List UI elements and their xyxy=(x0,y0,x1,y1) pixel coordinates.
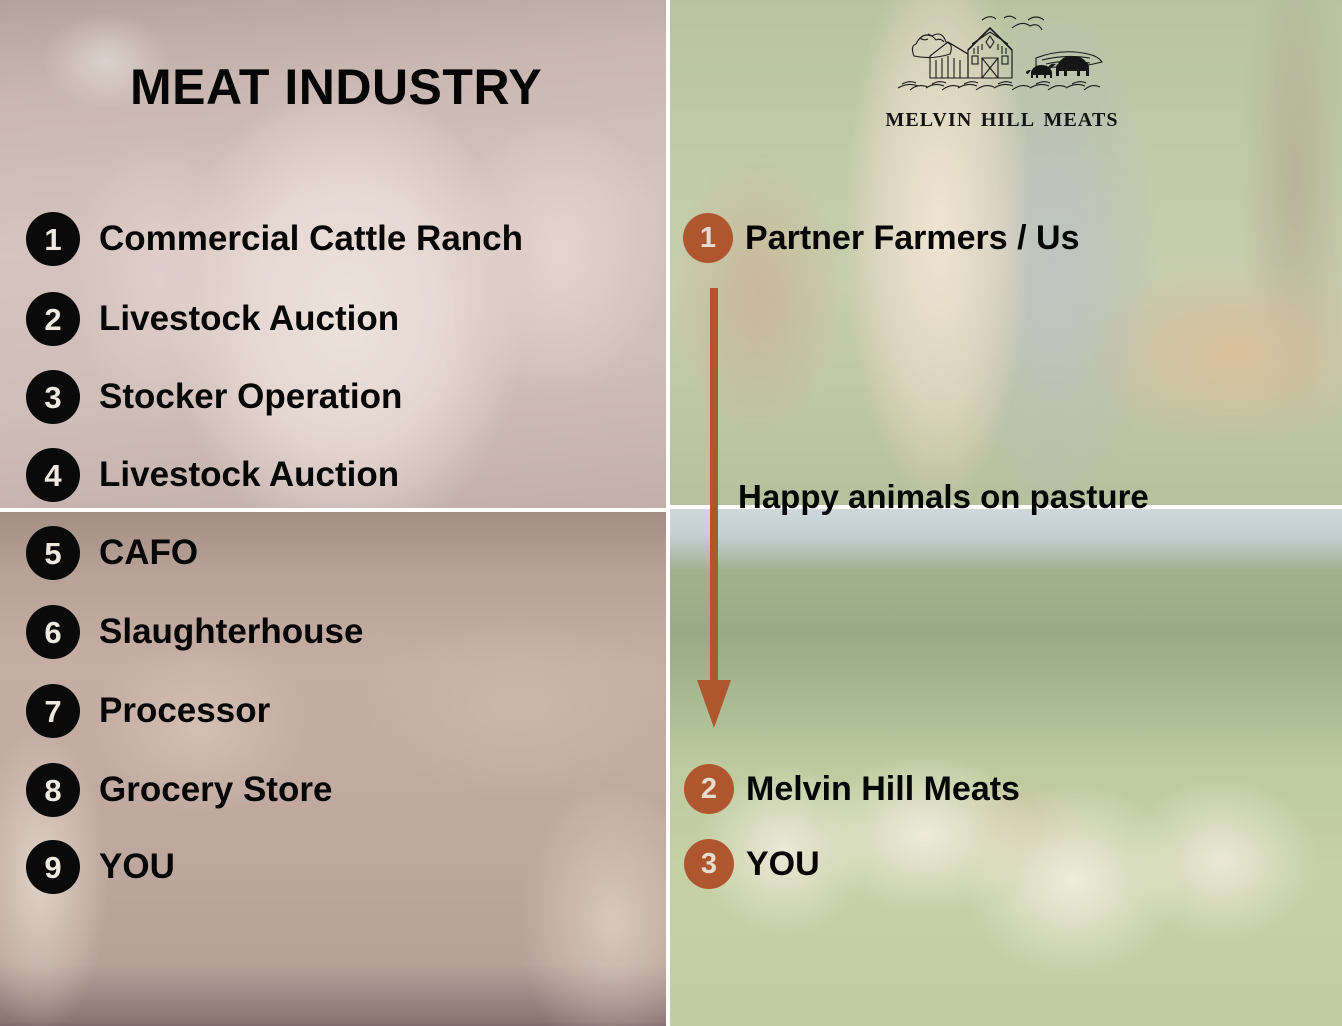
step-label: YOU xyxy=(746,845,820,884)
pasture-caption: Happy animals on pasture xyxy=(738,478,1149,516)
step-label: YOU xyxy=(99,847,175,887)
step-label: Grocery Store xyxy=(99,770,332,810)
step-number-badge: 5 xyxy=(26,526,80,580)
step-number-badge: 3 xyxy=(684,839,734,889)
step-number-badge: 1 xyxy=(26,212,80,266)
step-number-badge: 8 xyxy=(26,763,80,817)
step-label: Processor xyxy=(99,691,270,731)
step-number-badge: 4 xyxy=(26,448,80,502)
step-label: Slaughterhouse xyxy=(99,612,363,652)
step-label: Stocker Operation xyxy=(99,377,402,417)
brand-logo: Melvin Hill Meats xyxy=(846,14,1158,140)
list-item-step-7: 7 Processor xyxy=(26,684,270,738)
list-item-step-8: 8 Grocery Store xyxy=(26,763,332,817)
list-item-step-4: 4 Livestock Auction xyxy=(26,448,399,502)
list-item-step-1: 1 Commercial Cattle Ranch xyxy=(26,212,523,266)
step-number-badge: 2 xyxy=(26,292,80,346)
barn-farm-illustration-icon xyxy=(886,14,1118,100)
list-item-right-step-2: 2 Melvin Hill Meats xyxy=(684,764,1020,814)
infographic-canvas: MEAT INDUSTRY 1 Commercial Cattle Ranch … xyxy=(0,0,1342,1026)
list-item-step-3: 3 Stocker Operation xyxy=(26,370,402,424)
list-item-right-step-3: 3 YOU xyxy=(684,839,820,889)
brand-wordmark: Melvin Hill Meats xyxy=(885,101,1118,134)
step-number-badge: 1 xyxy=(683,213,733,263)
step-label: Partner Farmers / Us xyxy=(745,219,1080,258)
step-label: Livestock Auction xyxy=(99,299,399,339)
step-number-badge: 2 xyxy=(684,764,734,814)
step-number-badge: 3 xyxy=(26,370,80,424)
list-item-step-2: 2 Livestock Auction xyxy=(26,292,399,346)
step-label: Livestock Auction xyxy=(99,455,399,495)
step-number-badge: 9 xyxy=(26,840,80,894)
page-title: MEAT INDUSTRY xyxy=(130,58,542,116)
step-label: CAFO xyxy=(99,533,198,573)
step-label: Commercial Cattle Ranch xyxy=(99,219,523,259)
list-item-step-9: 9 YOU xyxy=(26,840,175,894)
step-number-badge: 6 xyxy=(26,605,80,659)
step-number-badge: 7 xyxy=(26,684,80,738)
list-item-step-5: 5 CAFO xyxy=(26,526,198,580)
down-arrow-icon xyxy=(697,288,731,728)
list-item-step-6: 6 Slaughterhouse xyxy=(26,605,363,659)
list-item-right-step-1: 1 Partner Farmers / Us xyxy=(683,213,1080,263)
step-label: Melvin Hill Meats xyxy=(746,770,1020,809)
